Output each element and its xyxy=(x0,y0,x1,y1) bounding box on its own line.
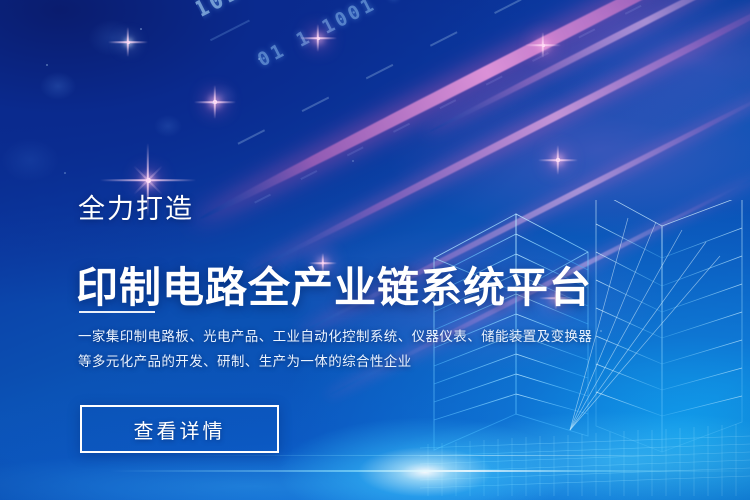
hero-banner: 10 1001 01 1001 10 0101 1 1001 0110 01 1… xyxy=(0,0,750,500)
view-details-button[interactable]: 查看详情 xyxy=(80,405,279,453)
banner-content: 全力打造 印制电路全产业链系统平台 一家集印制电路板、光电产品、工业自动化控制系… xyxy=(0,0,750,500)
banner-subtitle: 全力打造 xyxy=(78,196,194,223)
description-line: 等多元化产品的开发、研制、生产为一体的综合性企业 xyxy=(78,349,548,374)
banner-description: 一家集印制电路板、光电产品、工业自动化控制系统、仪器仪表、储能装置及变换器 等多… xyxy=(78,324,548,374)
description-line: 一家集印制电路板、光电产品、工业自动化控制系统、仪器仪表、储能装置及变换器 xyxy=(78,324,548,349)
view-details-label: 查看详情 xyxy=(134,415,226,444)
banner-headline: 印制电路全产业链系统平台 xyxy=(76,264,592,311)
divider-line xyxy=(79,311,155,313)
